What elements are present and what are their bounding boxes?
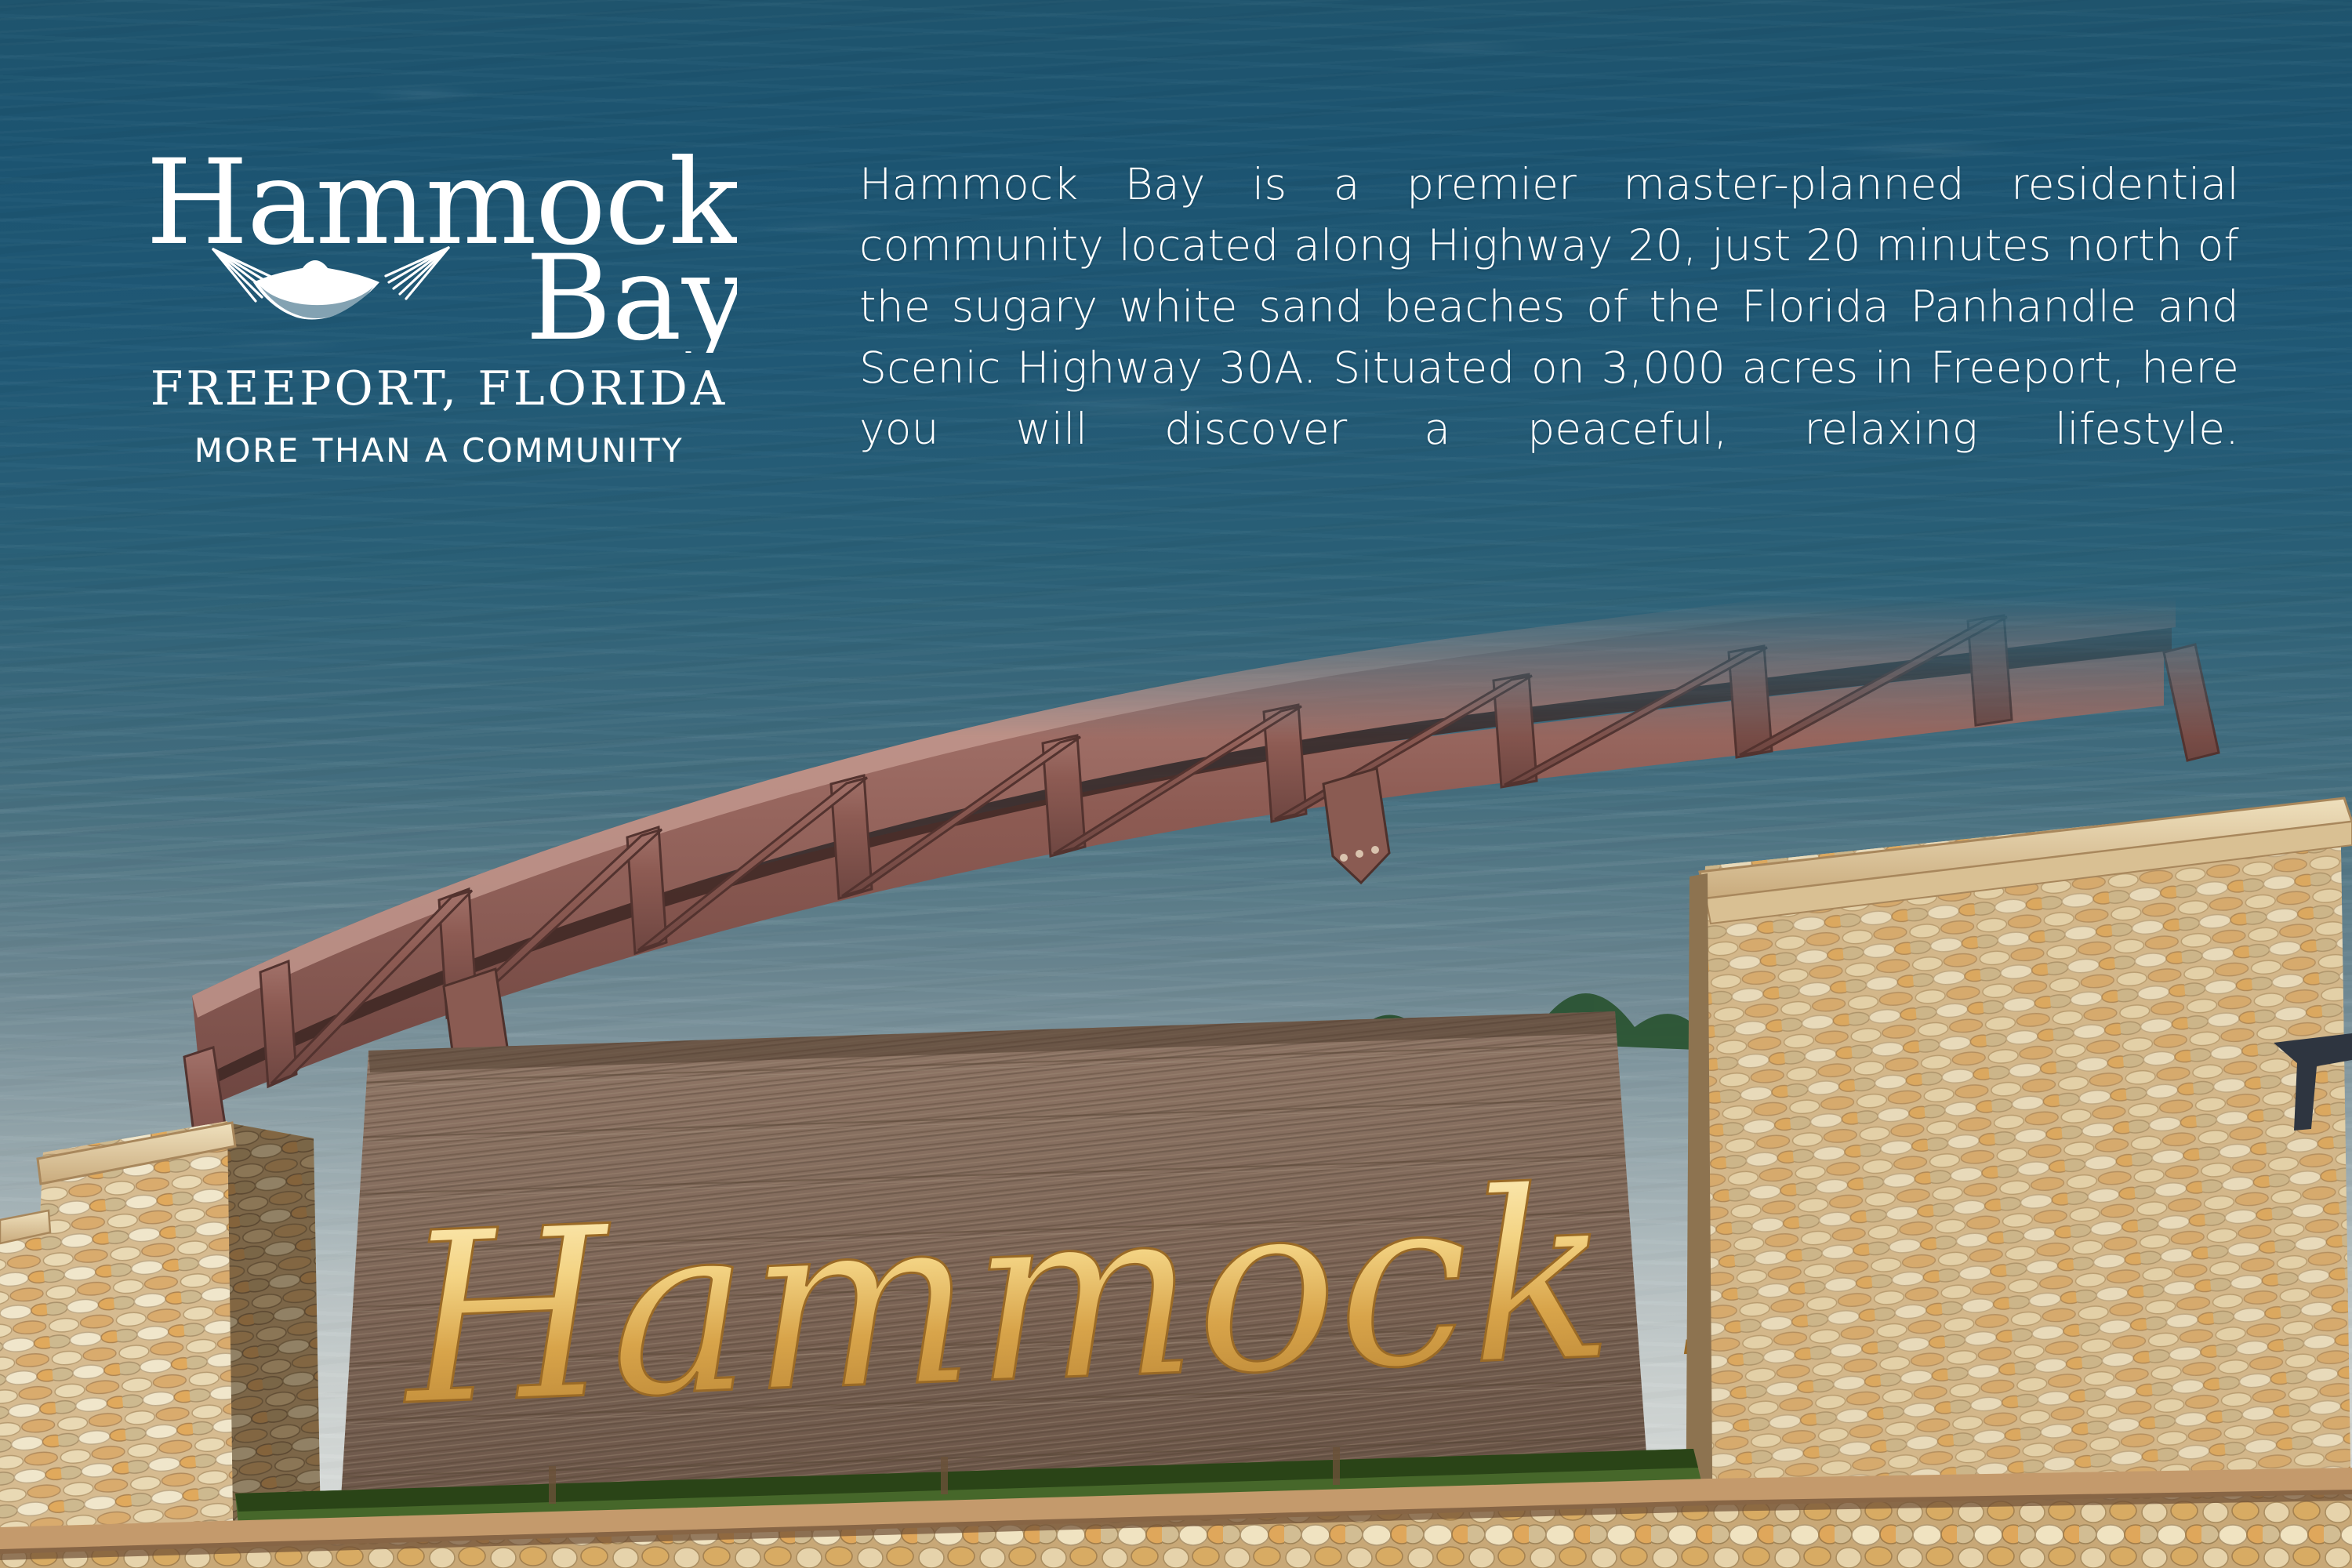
- brand-city-label: FREEPORT, FLORIDA: [141, 365, 737, 412]
- description-paragraph: Hammock Bay is a premier master-planned …: [859, 154, 2239, 521]
- brand-tagline: MORE THAN A COMMUNITY: [141, 434, 737, 467]
- brand-logo-block: Hammock Bay: [141, 125, 737, 467]
- promo-banner: Hammock Bay: [0, 0, 2352, 1568]
- svg-text:Bay: Bay: [525, 230, 737, 353]
- river-rock-wing-left: [0, 1210, 50, 1568]
- river-rock-wall-right: [1678, 784, 2352, 1568]
- brand-wordmark: Hammock Bay: [141, 125, 737, 353]
